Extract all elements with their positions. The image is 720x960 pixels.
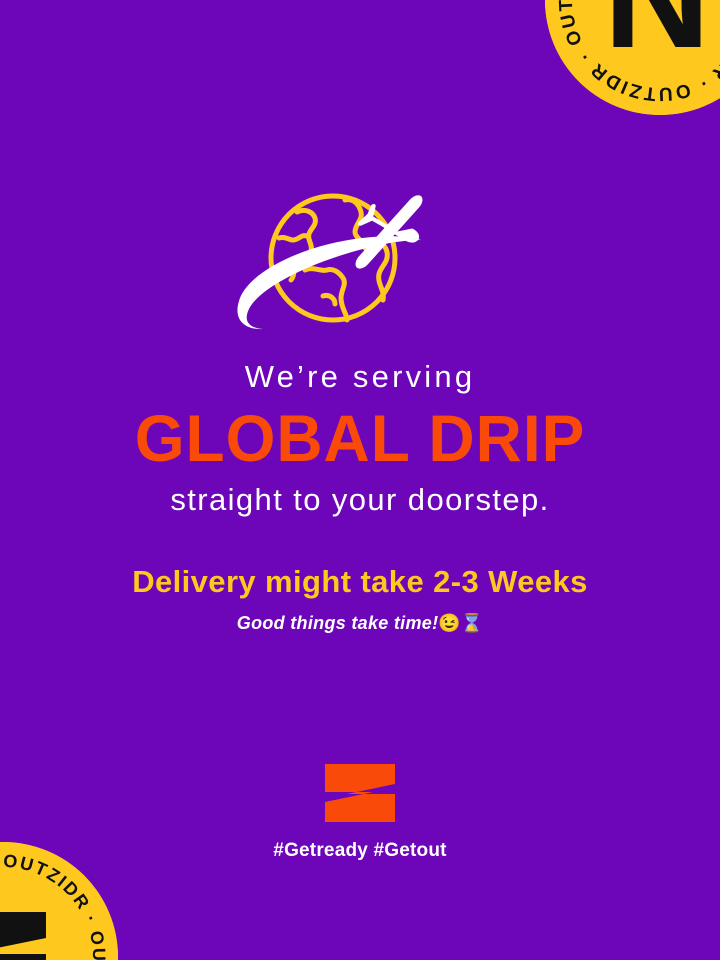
tagline-text: Good things take time!	[237, 613, 439, 633]
badge-center-letter: N	[604, 0, 711, 79]
page-title: GLOBAL DRIP	[11, 404, 709, 473]
promo-poster: OUTZIDR · OUTZIDR · OUTZIDR · OUTZIDR · …	[0, 0, 720, 960]
subhead-text: straight to your doorstep.	[0, 483, 720, 517]
globe-airplane-illustration	[235, 178, 485, 343]
badge-top-right-graphic: OUTZIDR · OUTZIDR · OUTZIDR · OUTZIDR · …	[545, 0, 720, 115]
hourglass-emoji-icon: ⌛	[461, 613, 483, 633]
hashtags-text: #Getready #Getout	[0, 840, 720, 862]
z-logo-mark-icon	[321, 762, 399, 824]
globe-continent-left2	[279, 236, 307, 240]
tagline-row: Good things take time!😉⌛	[0, 614, 720, 634]
globe-continent-small	[323, 295, 335, 304]
eyebrow-text: We’re serving	[0, 360, 720, 394]
footer-block: #Getready #Getout	[0, 762, 720, 862]
copy-block: We’re serving GLOBAL DRIP straight to yo…	[0, 360, 720, 633]
delivery-notice: Delivery might take 2-3 Weeks	[0, 565, 720, 599]
wink-emoji-icon: 😉	[438, 613, 460, 633]
brand-badge-top-right: OUTZIDR · OUTZIDR · OUTZIDR · OUTZIDR · …	[545, 0, 720, 115]
globe-airplane-graphic	[235, 178, 485, 343]
airplane-icon	[334, 175, 441, 285]
